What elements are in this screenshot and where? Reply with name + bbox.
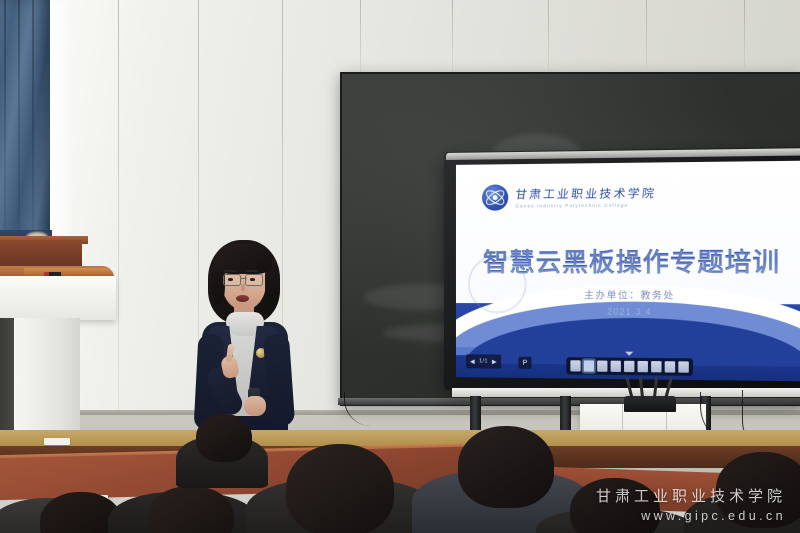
select-icon[interactable]	[584, 360, 594, 371]
wall-seam	[452, 0, 453, 72]
presenter	[186, 238, 306, 438]
wall-seam	[646, 0, 647, 70]
spotlight-icon[interactable]	[638, 361, 648, 372]
paper-sheet	[44, 438, 70, 445]
audience-member	[286, 444, 394, 533]
audience-member	[716, 452, 800, 528]
triangle-right-icon[interactable]: ▶	[492, 358, 497, 365]
page-navigator[interactable]: ◀ 1/1 ▶	[466, 354, 501, 368]
whiteboard-toolbar[interactable]	[566, 357, 693, 376]
wall-seam	[744, 0, 745, 70]
wall-seam	[548, 0, 549, 70]
wall-seam	[360, 0, 361, 78]
window-curtain	[0, 0, 50, 248]
holding-hand	[244, 396, 266, 416]
board-screen[interactable]: 甘肃工业职业技术学院 Gansu Industry Polytechnic Co…	[456, 161, 800, 382]
timer-icon[interactable]	[665, 361, 675, 372]
collapse-caret-icon[interactable]	[625, 352, 633, 356]
school-logo: 甘肃工业职业技术学院 Gansu Industry Polytechnic Co…	[482, 183, 656, 211]
presentation-slide: 甘肃工业职业技术学院 Gansu Industry Polytechnic Co…	[456, 161, 800, 382]
lectern-column	[14, 318, 80, 430]
multimedia-lectern	[0, 276, 116, 320]
atom-emblem-icon	[482, 184, 508, 210]
school-name-en: Gansu Industry Polytechnic College	[515, 202, 656, 208]
school-name-cn: 甘肃工业职业技术学院	[514, 185, 657, 202]
more-icon[interactable]	[678, 361, 689, 372]
page-badge[interactable]: P	[518, 357, 531, 369]
audience-member	[458, 426, 554, 508]
wall-seam	[118, 0, 119, 440]
slide-subtitle: 主办单位：教务处	[456, 287, 800, 302]
mouth	[236, 295, 249, 302]
smart-interactive-whiteboard[interactable]: 甘肃工业职业技术学院 Gansu Industry Polytechnic Co…	[444, 152, 800, 390]
audience-member	[570, 478, 660, 533]
page-indicator: 1/1	[479, 358, 488, 364]
audience-member	[196, 414, 252, 462]
board-bezel: 甘肃工业职业技术学院 Gansu Industry Polytechnic Co…	[444, 147, 800, 395]
menu-icon[interactable]	[570, 360, 580, 371]
wireless-router	[624, 396, 676, 412]
right-arm	[263, 333, 295, 427]
pen-icon[interactable]	[597, 361, 607, 372]
shape-icon[interactable]	[624, 361, 634, 372]
lecture-room-photo: 甘肃工业职业技术学院 Gansu Industry Polytechnic Co…	[0, 0, 800, 533]
triangle-left-icon[interactable]: ◀	[470, 358, 475, 365]
eraser-icon[interactable]	[611, 361, 621, 372]
slide-title: 智慧云黑板操作专题培训	[456, 242, 800, 279]
screenshot-icon[interactable]	[651, 361, 661, 372]
slide-date: 2021.3.4	[456, 306, 800, 318]
